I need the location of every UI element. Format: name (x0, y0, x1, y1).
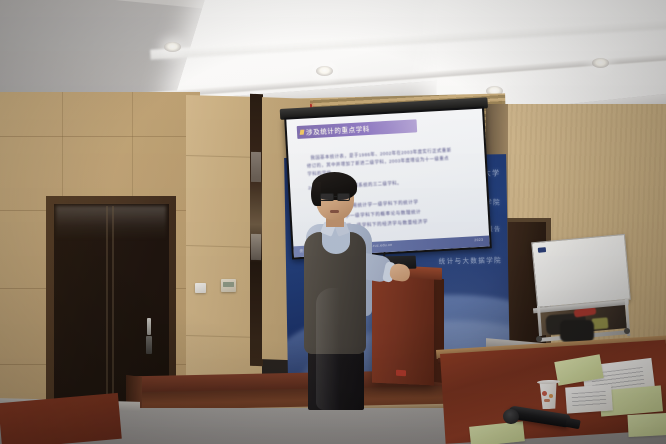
cup-decoration-icon (549, 394, 553, 398)
door-lock-plate-icon (146, 336, 152, 354)
light-switch[interactable] (195, 283, 206, 293)
whiteboard-surface[interactable] (531, 234, 631, 308)
green-form[interactable] (627, 413, 666, 437)
presenter-mouth (330, 210, 339, 213)
presenter (292, 176, 388, 408)
caster-wheel-icon (536, 336, 542, 342)
podium-red-marker (396, 370, 406, 377)
banner-line: 统计与大数据学院 (439, 254, 502, 265)
slide-footer-right: 2023 (474, 238, 483, 242)
downlight-icon (164, 42, 181, 52)
floor-bag (560, 320, 594, 342)
thermostat-display (223, 282, 234, 287)
wall-thermostat[interactable] (221, 279, 236, 292)
glasses-icon (337, 193, 350, 201)
green-box (592, 317, 609, 329)
glasses-bridge (334, 196, 338, 197)
cup-decoration-icon (544, 399, 550, 402)
caster-wheel-icon (624, 328, 630, 334)
downlight-icon (592, 58, 609, 68)
whiteboard-magnet-icon (538, 247, 546, 253)
glasses-icon (320, 193, 334, 201)
door-handle-icon[interactable] (147, 318, 151, 335)
cup-decoration-icon (542, 391, 547, 396)
front-table-left (0, 393, 122, 444)
document-text-lines (572, 391, 607, 407)
door-reflection (56, 206, 166, 240)
lecture-room-photo: 中国人民大学 统计学院 学术报告 统计与大数据学院 涉及统计的重点学科 我国基本… (0, 0, 666, 444)
vest-highlight (316, 288, 340, 410)
downlight-icon (316, 66, 333, 76)
